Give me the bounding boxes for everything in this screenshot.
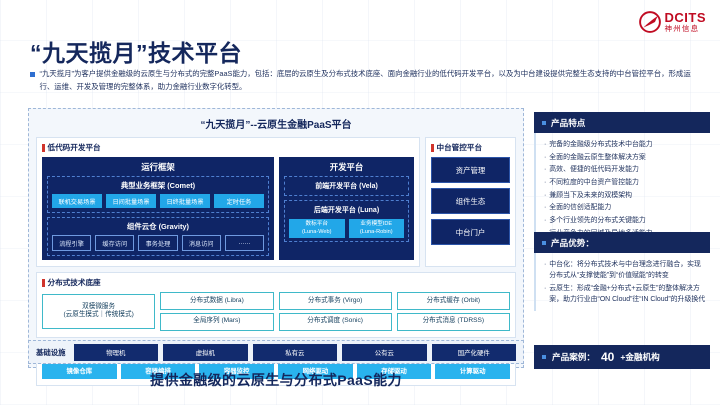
- midplatform-panel-head: 中台管控平台: [431, 142, 510, 153]
- backend-dev-chip-name: 数标平台: [290, 221, 344, 229]
- backend-dev-chip-row: 数标平台 (Luna-Web) 业务模型IDE (Luna-Robin): [289, 219, 404, 238]
- page-summary-text: “九天揽月”为客户提供金融级的云原生与分布式的完整PaaS能力，包括：底层的云原…: [40, 68, 699, 94]
- accent-bar-icon: [431, 144, 434, 152]
- product-cases-number: 40: [601, 350, 614, 364]
- list-item-text: 云原生：形成“金融+分布式+云原生”的整体解决方案，助力行业由“ON Cloud…: [549, 283, 706, 305]
- product-cases-label: 产品案例：: [552, 351, 595, 363]
- product-features-title: 产品特点: [551, 117, 585, 129]
- distributed-col: 分布式缓存 (Orbit) 分布式消息 (TDRSS): [397, 292, 510, 331]
- midplatform-item[interactable]: 资产管理: [431, 157, 510, 183]
- gravity-chip[interactable]: 消息访问: [182, 235, 221, 251]
- distributed-box[interactable]: 分布式事务 (Virgo): [279, 292, 392, 310]
- midplatform-item[interactable]: 组件生态: [431, 188, 510, 214]
- backend-dev-label: 后端开发平台 (Luna): [289, 204, 404, 216]
- list-item: ·多个行业领先的分布式关键能力: [544, 215, 706, 226]
- gravity-group: 组件云仓 (Gravity) 流程引擎 缓存访问 事务处理 消息访问 ……: [47, 217, 269, 256]
- accent-bar-icon: [42, 279, 45, 287]
- dot-icon: ·: [544, 190, 546, 201]
- lowcode-panel-title: 低代码开发平台: [48, 142, 101, 153]
- backend-dev-chip-name: 业务模型IDE: [350, 221, 404, 229]
- list-item-text: 中台化：将分布式技术与中台理念进行融合，实现分布式从“支撑使能”到“价值赋能”的…: [549, 259, 706, 281]
- distributed-box[interactable]: 分布式数据 (Libra): [160, 292, 273, 310]
- runframe-block: 运行框架 典型业务框架 (Comet) 联机交易场景 日间批量场景 日终批量场景…: [42, 157, 274, 260]
- brand-logo: DCITS 神州信息: [639, 11, 707, 33]
- infrastructure-chip[interactable]: 虚拟机: [163, 344, 247, 361]
- gravity-chip[interactable]: 缓存访问: [95, 235, 134, 251]
- bullet-square-icon: [542, 121, 546, 125]
- backend-dev-chip[interactable]: 数标平台 (Luna-Web): [289, 219, 345, 238]
- list-item-text: 不同粒度的中台资产管控能力: [549, 177, 706, 188]
- comet-chip[interactable]: 联机交易场景: [52, 194, 102, 208]
- page-title: “九天揽月”技术平台: [30, 34, 242, 68]
- list-item: ·兼顾当下及未来的双模架构: [544, 190, 706, 201]
- dot-icon: ·: [544, 215, 546, 226]
- comet-group: 典型业务框架 (Comet) 联机交易场景 日间批量场景 日终批量场景 定时任务: [47, 176, 269, 213]
- infrastructure-bar: 基础设施 物理机 虚拟机 私有云 公有云 国产化硬件: [28, 340, 524, 364]
- runframe-title: 运行框架: [42, 157, 274, 176]
- distributed-base-head: 分布式技术底座: [42, 277, 510, 288]
- distributed-box[interactable]: 全局序列 (Mars): [160, 313, 273, 331]
- brand-name-en: DCITS: [665, 11, 707, 24]
- board-top-row: 低代码开发平台 运行框架 典型业务框架 (Comet) 联机交易场景 日间批量场…: [36, 137, 516, 267]
- distributed-col: 分布式事务 (Virgo) 分布式调度 (Sonic): [279, 292, 392, 331]
- infrastructure-chip[interactable]: 公有云: [342, 344, 426, 361]
- product-cases-head: 产品案例： 40 +金融机构: [534, 345, 710, 369]
- midplatform-panel: 中台管控平台 资产管理 组件生态 中台门户: [425, 137, 516, 267]
- infrastructure-chip[interactable]: 私有云: [253, 344, 337, 361]
- dot-icon: ·: [544, 202, 546, 213]
- gravity-chip[interactable]: 流程引擎: [52, 235, 91, 251]
- list-item: ·完备的金融级分布式技术中台能力: [544, 139, 706, 150]
- dot-icon: ·: [544, 177, 546, 188]
- dcits-swoosh-icon: [639, 11, 661, 33]
- product-advantages-title: 产品优势：: [551, 237, 594, 249]
- frontend-dev-label: 前端开发平台 (Vela): [289, 180, 404, 192]
- list-item: ·不同粒度的中台资产管控能力: [544, 177, 706, 188]
- list-item-text: 完备的金融级分布式技术中台能力: [549, 139, 706, 150]
- distributed-base-title: 分布式技术底座: [48, 277, 101, 288]
- product-cases-card: 产品案例： 40 +金融机构: [534, 345, 710, 369]
- gravity-title: 组件云仓 (Gravity): [52, 221, 264, 232]
- distributed-box[interactable]: 分布式消息 (TDRSS): [397, 313, 510, 331]
- devplatform-block: 开发平台 前端开发平台 (Vela) 后端开发平台 (Luna) 数标平台 (L…: [279, 157, 414, 260]
- architecture-board: “九天揽月”--云原生金融PaaS平台 低代码开发平台 运行框架 典型业务框架 …: [28, 108, 524, 368]
- backend-dev-chip-code: (Luna-Robin): [350, 229, 404, 237]
- comet-chip[interactable]: 日间批量场景: [106, 194, 156, 208]
- dot-icon: ·: [544, 139, 546, 150]
- backend-dev-chip[interactable]: 业务模型IDE (Luna-Robin): [349, 219, 405, 238]
- list-item-text: 多个行业领先的分布式关键能力: [549, 215, 706, 226]
- midplatform-panel-title: 中台管控平台: [437, 142, 483, 153]
- distributed-col: 双模微服务 (云原生模式｜传统模式): [42, 292, 155, 331]
- accent-bar-icon: [42, 144, 45, 152]
- backend-dev-group: 后端开发平台 (Luna) 数标平台 (Luna-Web) 业务模型IDE (L…: [284, 200, 409, 242]
- brand-name-cn: 神州信息: [665, 25, 707, 33]
- distributed-box[interactable]: 双模微服务 (云原生模式｜传统模式): [42, 294, 155, 329]
- distributed-base-grid: 双模微服务 (云原生模式｜传统模式) 分布式数据 (Libra) 全局序列 (M…: [42, 292, 510, 331]
- infrastructure-chip[interactable]: 国产化硬件: [432, 344, 516, 361]
- list-item-text: 全面的信创适配能力: [549, 202, 706, 213]
- page-summary: “九天揽月”为客户提供金融级的云原生与分布式的完整PaaS能力，包括：底层的云原…: [30, 68, 698, 94]
- list-item: ·全面的信创适配能力: [544, 202, 706, 213]
- dot-icon: ·: [544, 283, 546, 305]
- dot-icon: ·: [544, 152, 546, 163]
- slide-root: DCITS 神州信息 “九天揽月”技术平台 “九天揽月”为客户提供金融级的云原生…: [0, 0, 720, 405]
- bullet-square-icon: [542, 241, 546, 245]
- comet-chip[interactable]: 日终批量场景: [160, 194, 210, 208]
- distributed-col: 分布式数据 (Libra) 全局序列 (Mars): [160, 292, 273, 331]
- product-advantages-body: ·中台化：将分布式技术与中台理念进行融合，实现分布式从“支撑使能”到“价值赋能”…: [534, 253, 710, 311]
- board-title: “九天揽月”--云原生金融PaaS平台: [36, 116, 516, 131]
- dot-icon: ·: [544, 164, 546, 175]
- infrastructure-label: 基础设施: [36, 347, 69, 358]
- list-item-text: 兼顾当下及未来的双模架构: [549, 190, 706, 201]
- comet-title: 典型业务框架 (Comet): [52, 180, 264, 191]
- distributed-base-panel: 分布式技术底座 双模微服务 (云原生模式｜传统模式) 分布式数据 (Libra)…: [36, 272, 516, 338]
- devplatform-title: 开发平台: [279, 157, 414, 176]
- footer-title: 提供金融级的云原生与分布式PaaS能力: [0, 370, 552, 390]
- product-advantages-head: 产品优势：: [534, 232, 710, 253]
- bullet-square-icon: [30, 72, 35, 77]
- distributed-box[interactable]: 分布式缓存 (Orbit): [397, 292, 510, 310]
- gravity-chip[interactable]: ……: [225, 235, 264, 251]
- frontend-dev-group: 前端开发平台 (Vela): [284, 176, 409, 196]
- product-features-body: ·完备的金融级分布式技术中台能力 ·全面的金融云原生整体解决方案 ·高效、便捷的…: [534, 133, 710, 245]
- midplatform-item[interactable]: 中台门户: [431, 219, 510, 245]
- lowcode-panel-head: 低代码开发平台: [42, 142, 414, 153]
- product-features-head: 产品特点: [534, 112, 710, 133]
- dot-icon: ·: [544, 259, 546, 281]
- distributed-box-line2: (云原生模式｜传统模式): [45, 311, 152, 320]
- gravity-chip-row: 流程引擎 缓存访问 事务处理 消息访问 ……: [52, 235, 264, 251]
- lowcode-columns: 运行框架 典型业务框架 (Comet) 联机交易场景 日间批量场景 日终批量场景…: [42, 157, 414, 260]
- bullet-square-icon: [542, 355, 546, 359]
- product-cases-suffix: +金融机构: [620, 351, 659, 363]
- gravity-chip[interactable]: 事务处理: [138, 235, 177, 251]
- infrastructure-chip[interactable]: 物理机: [74, 344, 158, 361]
- list-item: ·高效、便捷的低代码开发能力: [544, 164, 706, 175]
- list-item: ·中台化：将分布式技术与中台理念进行融合，实现分布式从“支撑使能”到“价值赋能”…: [544, 259, 706, 281]
- list-item-text: 高效、便捷的低代码开发能力: [549, 164, 706, 175]
- comet-chip[interactable]: 定时任务: [214, 194, 264, 208]
- distributed-box[interactable]: 分布式调度 (Sonic): [279, 313, 392, 331]
- list-item: ·云原生：形成“金融+分布式+云原生”的整体解决方案，助力行业由“ON Clou…: [544, 283, 706, 305]
- product-features-card: 产品特点 ·完备的金融级分布式技术中台能力 ·全面的金融云原生整体解决方案 ·高…: [534, 112, 710, 245]
- backend-dev-chip-code: (Luna-Web): [290, 229, 344, 237]
- lowcode-panel: 低代码开发平台 运行框架 典型业务框架 (Comet) 联机交易场景 日间批量场…: [36, 137, 420, 267]
- product-advantages-card: 产品优势： ·中台化：将分布式技术与中台理念进行融合，实现分布式从“支撑使能”到…: [534, 232, 710, 311]
- comet-chip-row: 联机交易场景 日间批量场景 日终批量场景 定时任务: [52, 194, 264, 208]
- list-item: ·全面的金融云原生整体解决方案: [544, 152, 706, 163]
- list-item-text: 全面的金融云原生整体解决方案: [549, 152, 706, 163]
